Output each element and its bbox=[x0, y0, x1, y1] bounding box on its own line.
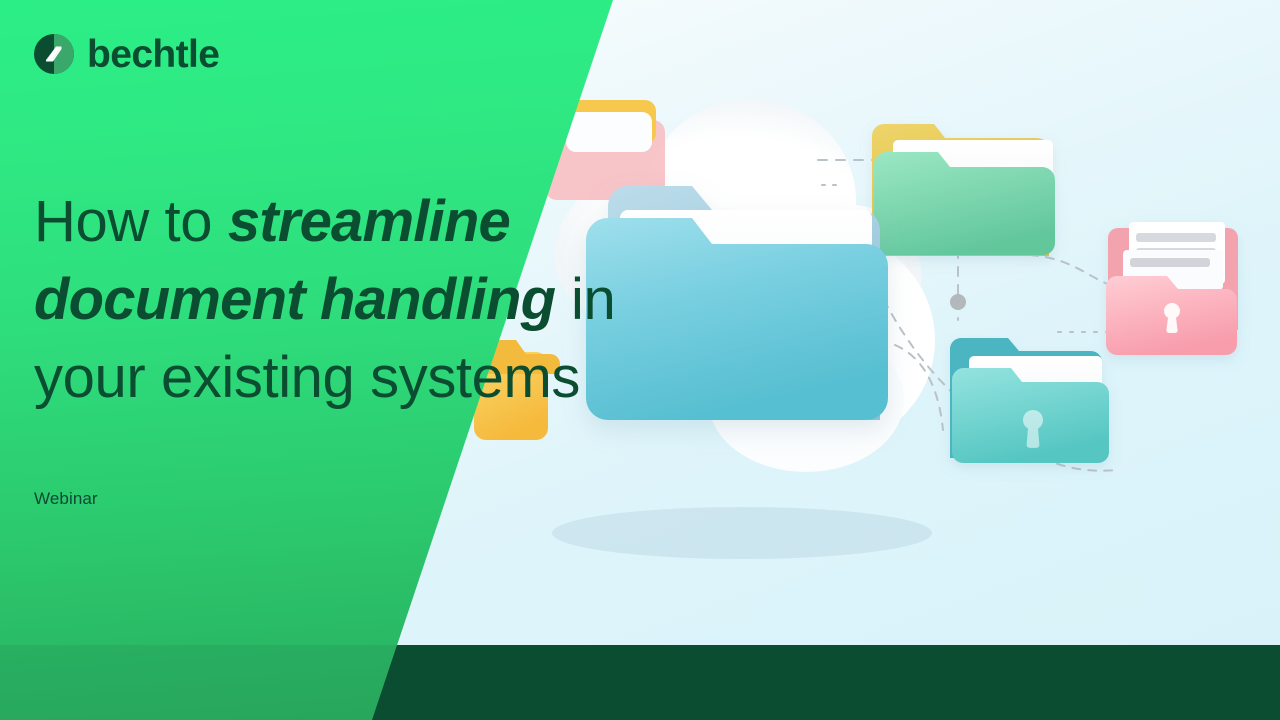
title-slide: bechtle How to streamlinedocument handli… bbox=[0, 0, 1280, 720]
headline-emphasis-2: document handling bbox=[34, 267, 555, 332]
bechtle-wordmark: bechtle bbox=[87, 35, 219, 74]
headline-plain-1: How to bbox=[34, 189, 228, 254]
slide-content: bechtle How to streamlinedocument handli… bbox=[0, 0, 1280, 720]
bechtle-logo[interactable]: bechtle bbox=[34, 34, 219, 74]
headline-plain-3: your existing systems bbox=[34, 345, 580, 410]
slide-kicker-label: Webinar bbox=[34, 489, 98, 509]
page-title: How to streamlinedocument handling inyou… bbox=[34, 183, 794, 417]
bechtle-circle-slash-logo-icon bbox=[34, 34, 74, 74]
headline-plain-2: in bbox=[555, 267, 615, 332]
headline-emphasis-1: streamline bbox=[228, 189, 510, 254]
